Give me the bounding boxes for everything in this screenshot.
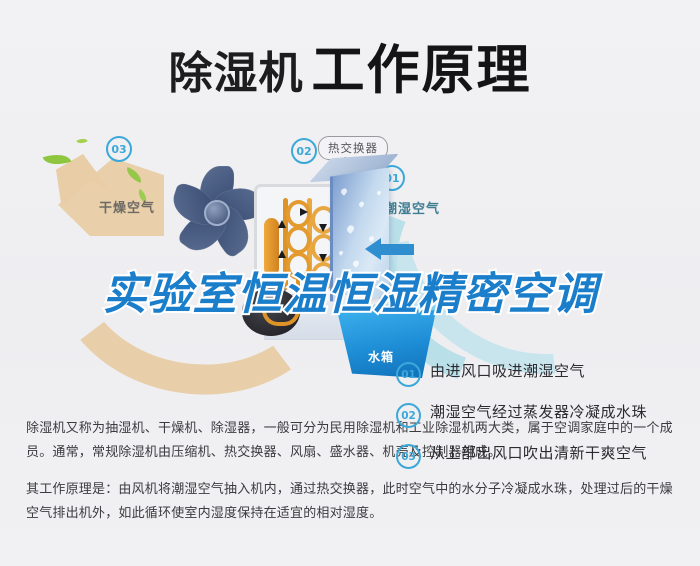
legend-item: 01 由进风口吸进潮湿空气 [396, 361, 696, 387]
page-root: 除湿机工作原理 干燥空气 潮湿空气 03 02 01 热交换器 [0, 0, 700, 566]
fan-hub [204, 200, 230, 226]
page-title-part1: 除湿机 [169, 48, 304, 99]
water-droplet-icon [358, 201, 365, 208]
legend-number-03: 03 [396, 444, 421, 469]
page-title-part2: 工作原理 [312, 40, 532, 101]
flow-arrow-right-icon [300, 208, 308, 216]
flow-arrow-up-icon [278, 220, 286, 228]
air-intake-arrow-icon [380, 244, 414, 255]
legend-list: 01 由进风口吸进潮湿空气 02 潮湿空气经过蒸发器冷凝成水珠 03 从上部出风… [396, 361, 696, 484]
step-marker-02: 02 [291, 138, 317, 164]
water-droplet-icon [338, 250, 344, 256]
coil-loop [286, 226, 311, 254]
legend-item: 02 潮湿空气经过蒸发器冷凝成水珠 [396, 402, 696, 428]
legend-text-03: 从上部出风口吹出清新干爽空气 [430, 443, 647, 463]
leaf-icon [76, 136, 88, 146]
legend-text-02: 潮湿空气经过蒸发器冷凝成水珠 [430, 402, 647, 422]
legend-text-01: 由进风口吸进潮湿空气 [430, 361, 585, 381]
description-paragraph-2: 其工作原理是：由风机将潮湿空气抽入机内，通过热交换器，此时空气中的水分子冷凝成水… [26, 478, 678, 526]
watermark-overlay: 实验室恒温恒湿精密空调 [0, 258, 700, 322]
step-marker-03: 03 [106, 136, 132, 162]
legend-number-02: 02 [396, 403, 421, 428]
legend-item: 03 从上部出风口吹出清新干爽空气 [396, 443, 696, 469]
water-tank-label: 水箱 [368, 348, 394, 365]
water-droplet-icon [376, 190, 382, 196]
page-title: 除湿机工作原理 [0, 28, 700, 104]
flow-arrow-up-icon [278, 250, 286, 258]
dehumidifier-diagram: 干燥空气 潮湿空气 03 02 01 热交换器 [0, 118, 700, 380]
flow-arrow-down-icon [319, 224, 327, 232]
water-droplet-icon [346, 224, 356, 234]
watermark-text: 实验室恒温恒湿精密空调 [103, 269, 598, 320]
legend-number-01: 01 [396, 362, 421, 387]
water-droplet-icon [340, 187, 348, 195]
dry-air-label: 干燥空气 [99, 197, 155, 216]
